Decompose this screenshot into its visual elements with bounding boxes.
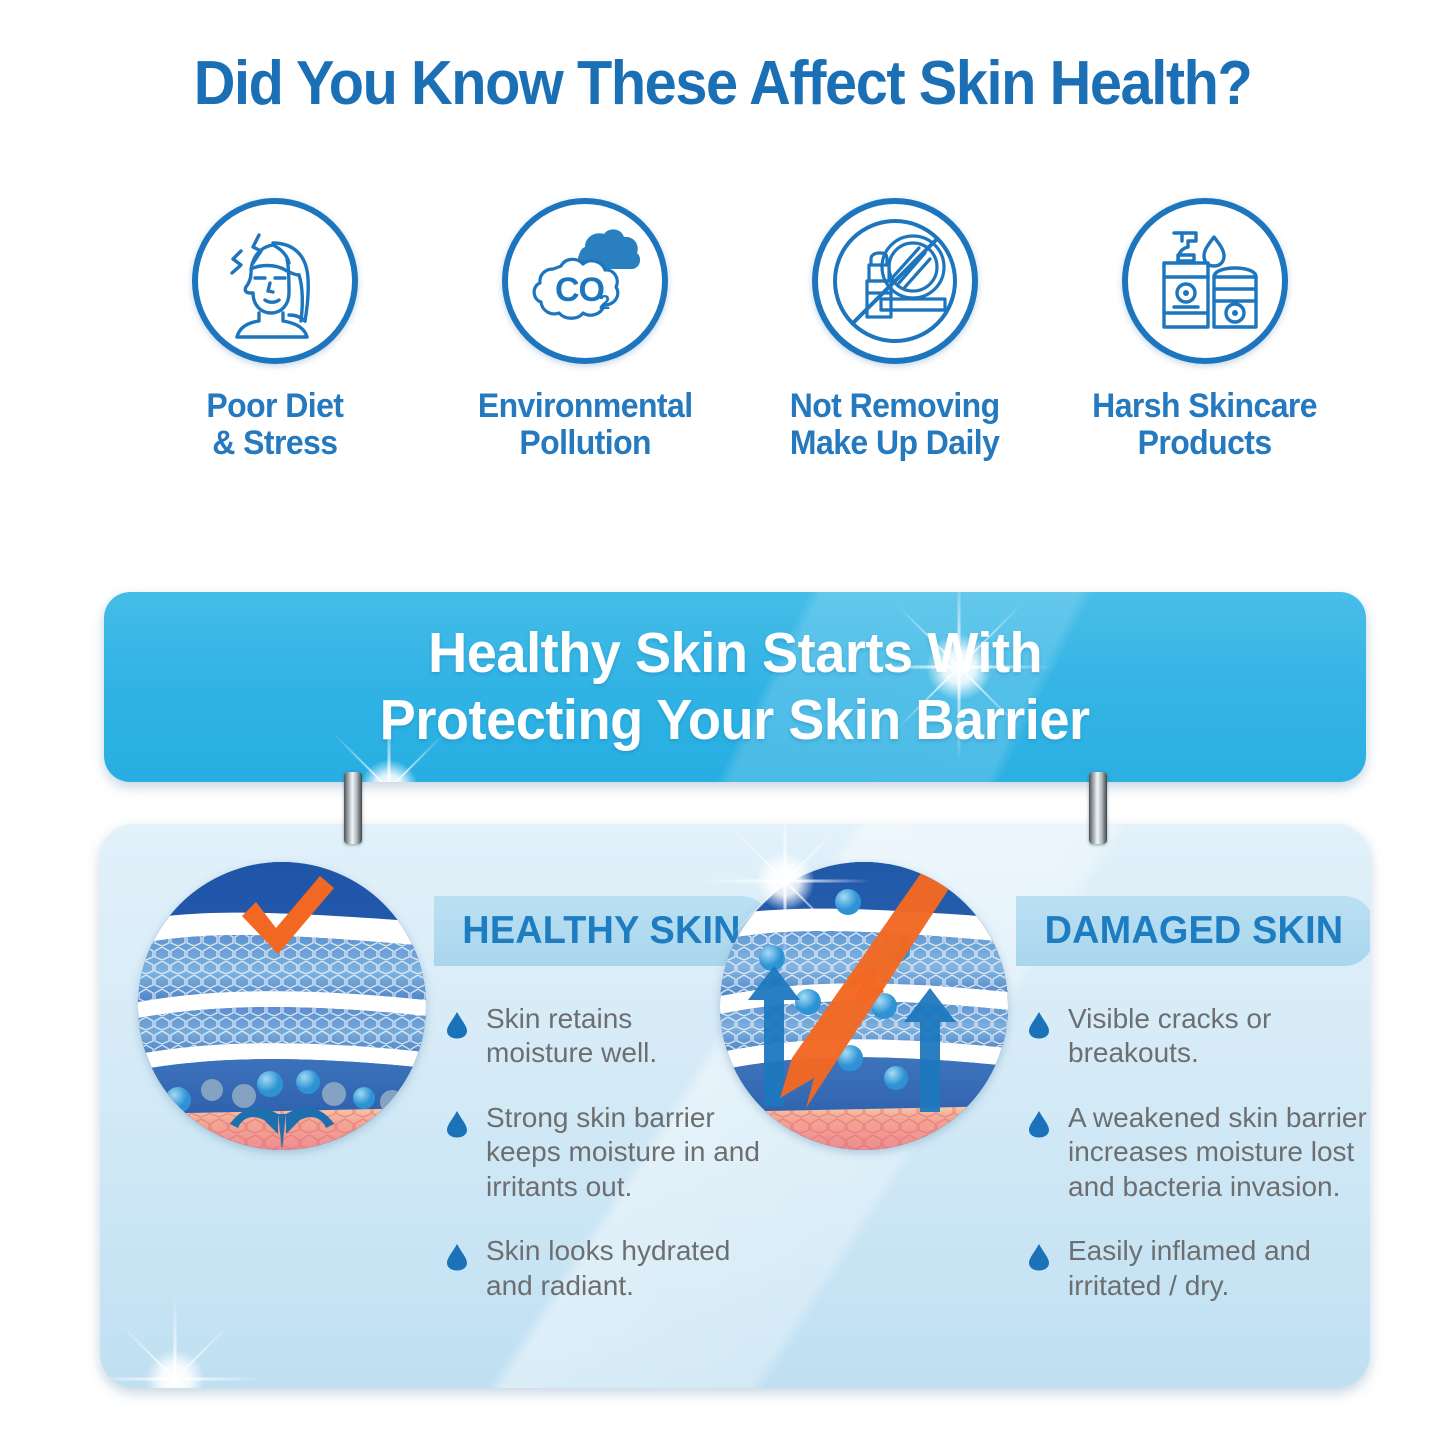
- factor-label: Not Removing Make Up Daily: [790, 388, 1000, 461]
- factor-label: Poor Diet & Stress: [206, 388, 343, 461]
- list-item: Visible cracks or breakouts.: [1028, 1002, 1370, 1071]
- factor-not-removing-makeup[interactable]: Not Removing Make Up Daily: [770, 198, 1020, 461]
- damaged-skin-label-pill: DAMAGED SKIN: [1016, 896, 1370, 966]
- damaged-skin-bullet-list: Visible cracks or breakouts. A weakened …: [1022, 1002, 1370, 1303]
- page-title: Did You Know These Affect Skin Health?: [51, 48, 1395, 119]
- bullet-text: Strong skin barrier keeps moisture in an…: [486, 1101, 760, 1204]
- metal-clip-pin-left: [344, 772, 362, 844]
- risk-factors-row: Poor Diet & Stress CO 2 Environmental Po…: [150, 198, 1330, 461]
- list-item: A weakened skin barrier increases moistu…: [1028, 1101, 1370, 1204]
- panel-heading: HEALTHY SKIN: [462, 909, 740, 953]
- banner-line-2: Protecting Your Skin Barrier: [380, 687, 1090, 754]
- panel-healthy-skin: HEALTHY SKIN Skin retains moisture well.…: [138, 862, 738, 1303]
- factor-label: Environmental Pollution: [478, 388, 693, 461]
- bullet-text: Skin retains moisture well.: [486, 1002, 657, 1071]
- banner-healthy-skin: Healthy Skin Starts With Protecting Your…: [104, 592, 1366, 782]
- water-drop-icon: [1028, 1110, 1054, 1138]
- factor-poor-diet-stress[interactable]: Poor Diet & Stress: [150, 198, 400, 461]
- banner-line-1: Healthy Skin Starts With: [428, 620, 1042, 687]
- stressed-face-icon: [192, 198, 358, 364]
- water-drop-icon: [446, 1243, 472, 1271]
- co2-cloud-icon: CO 2: [502, 198, 668, 364]
- bullet-text: Visible cracks or breakouts.: [1068, 1002, 1271, 1071]
- panel-damaged-skin: DAMAGED SKIN Visible cracks or breakouts…: [720, 862, 1340, 1303]
- factor-harsh-skincare-products[interactable]: Harsh Skincare Products: [1080, 198, 1330, 461]
- factor-environmental-pollution[interactable]: CO 2 Environmental Pollution: [460, 198, 710, 461]
- water-drop-icon: [1028, 1011, 1054, 1039]
- bullet-text: Easily inflamed and irritated / dry.: [1068, 1234, 1311, 1303]
- skincare-products-icon: [1122, 198, 1288, 364]
- panel-heading: DAMAGED SKIN: [1045, 909, 1344, 953]
- healthy-skin-diagram: [138, 862, 426, 1150]
- water-drop-icon: [446, 1110, 472, 1138]
- water-drop-icon: [446, 1011, 472, 1039]
- damaged-skin-diagram: [720, 862, 1008, 1150]
- sparkle-icon: [100, 1294, 260, 1388]
- skin-comparison-card: HEALTHY SKIN Skin retains moisture well.…: [100, 824, 1370, 1388]
- svg-text:CO: CO: [555, 271, 605, 309]
- no-makeup-icon: [812, 198, 978, 364]
- water-drop-icon: [1028, 1243, 1054, 1271]
- metal-clip-pin-right: [1089, 772, 1107, 844]
- list-item: Easily inflamed and irritated / dry.: [1028, 1234, 1370, 1303]
- svg-text:2: 2: [599, 292, 610, 314]
- bullet-text: Skin looks hydrated and radiant.: [486, 1234, 730, 1303]
- bullet-text: A weakened skin barrier increases moistu…: [1068, 1101, 1367, 1204]
- factor-label: Harsh Skincare Products: [1093, 388, 1318, 461]
